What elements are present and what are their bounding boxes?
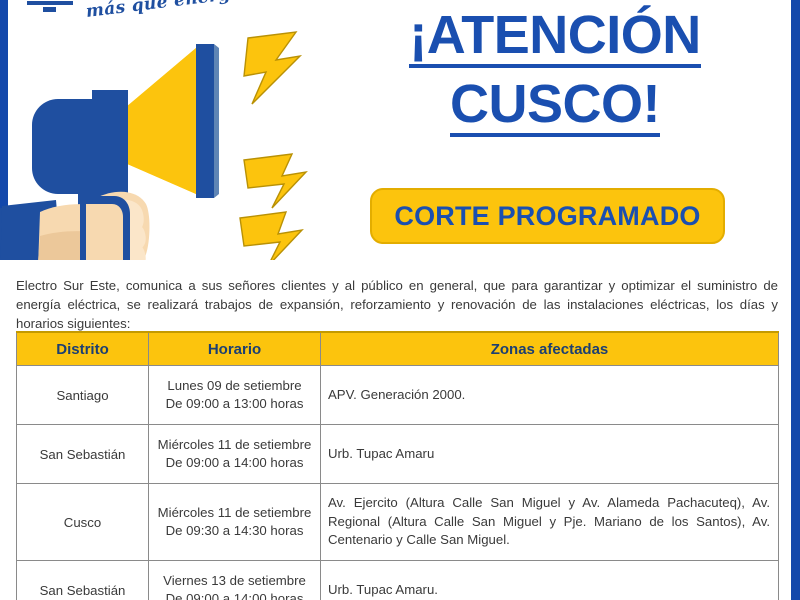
megaphone-with-hand-icon: [0, 30, 330, 260]
column-header-distrito: Distrito: [17, 332, 149, 366]
cell-zonas: Urb. Tupac Amaru.: [321, 561, 779, 600]
cell-horario-dia: Miércoles 11 de setiembre: [158, 437, 312, 452]
cell-horario-dia: Viernes 13 de setiembre: [163, 573, 306, 588]
table-row: Cusco Miércoles 11 de setiembre De 09:30…: [17, 484, 779, 561]
flyer-page: más que energía...: [0, 0, 800, 600]
cell-horario-dia: Lunes 09 de setiembre: [167, 378, 301, 393]
headline-atencion: ¡ATENCIÓN: [409, 8, 700, 68]
electro-sur-este-logo-icon: [27, 0, 73, 14]
cell-zonas: APV. Generación 2000.: [321, 366, 779, 425]
table-row: San Sebastián Viernes 13 de setiembre De…: [17, 561, 779, 600]
cell-horario: Viernes 13 de setiembre De 09:00 a 14:00…: [149, 561, 321, 600]
schedule-table: Distrito Horario Zonas afectadas Santiag…: [16, 331, 779, 600]
cell-zonas: Urb. Tupac Amaru: [321, 425, 779, 484]
cell-distrito: Santiago: [17, 366, 149, 425]
table-header-row: Distrito Horario Zonas afectadas: [17, 332, 779, 366]
right-blue-border: [791, 0, 800, 600]
cell-horario-hora: De 09:30 a 14:30 horas: [166, 523, 304, 538]
cell-distrito: San Sebastián: [17, 425, 149, 484]
cell-horario: Miércoles 11 de setiembre De 09:00 a 14:…: [149, 425, 321, 484]
headline-block: ¡ATENCIÓN CUSCO!: [330, 8, 780, 137]
cell-distrito: Cusco: [17, 484, 149, 561]
cell-horario-hora: De 09:00 a 14:00 horas: [166, 591, 304, 600]
intro-paragraph: Electro Sur Este, comunica a sus señores…: [16, 276, 778, 333]
cell-horario-hora: De 09:00 a 13:00 horas: [166, 396, 304, 411]
cell-horario-dia: Miércoles 11 de setiembre: [158, 505, 312, 520]
column-header-zonas: Zonas afectadas: [321, 332, 779, 366]
brand-tagline: más que energía...: [85, 0, 269, 22]
table-row: Santiago Lunes 09 de setiembre De 09:00 …: [17, 366, 779, 425]
cell-zonas: Av. Ejercito (Altura Calle San Miguel y …: [321, 484, 779, 561]
cell-distrito: San Sebastián: [17, 561, 149, 600]
headline-row-1: ¡ATENCIÓN: [330, 8, 780, 68]
headline-row-2: CUSCO!: [330, 77, 780, 137]
logo-nub: [43, 7, 56, 12]
corte-programado-banner: CORTE PROGRAMADO: [370, 188, 725, 244]
schedule-table-wrapper: Distrito Horario Zonas afectadas Santiag…: [16, 331, 778, 600]
table-row: San Sebastián Miércoles 11 de setiembre …: [17, 425, 779, 484]
cell-horario-hora: De 09:00 a 14:00 horas: [166, 455, 304, 470]
schedule-table-body: Santiago Lunes 09 de setiembre De 09:00 …: [17, 366, 779, 600]
column-header-horario: Horario: [149, 332, 321, 366]
logo-bar: [27, 1, 73, 5]
schedule-table-head: Distrito Horario Zonas afectadas: [17, 332, 779, 366]
cell-horario: Miércoles 11 de setiembre De 09:30 a 14:…: [149, 484, 321, 561]
cell-horario: Lunes 09 de setiembre De 09:00 a 13:00 h…: [149, 366, 321, 425]
headline-cusco: CUSCO!: [450, 77, 660, 137]
